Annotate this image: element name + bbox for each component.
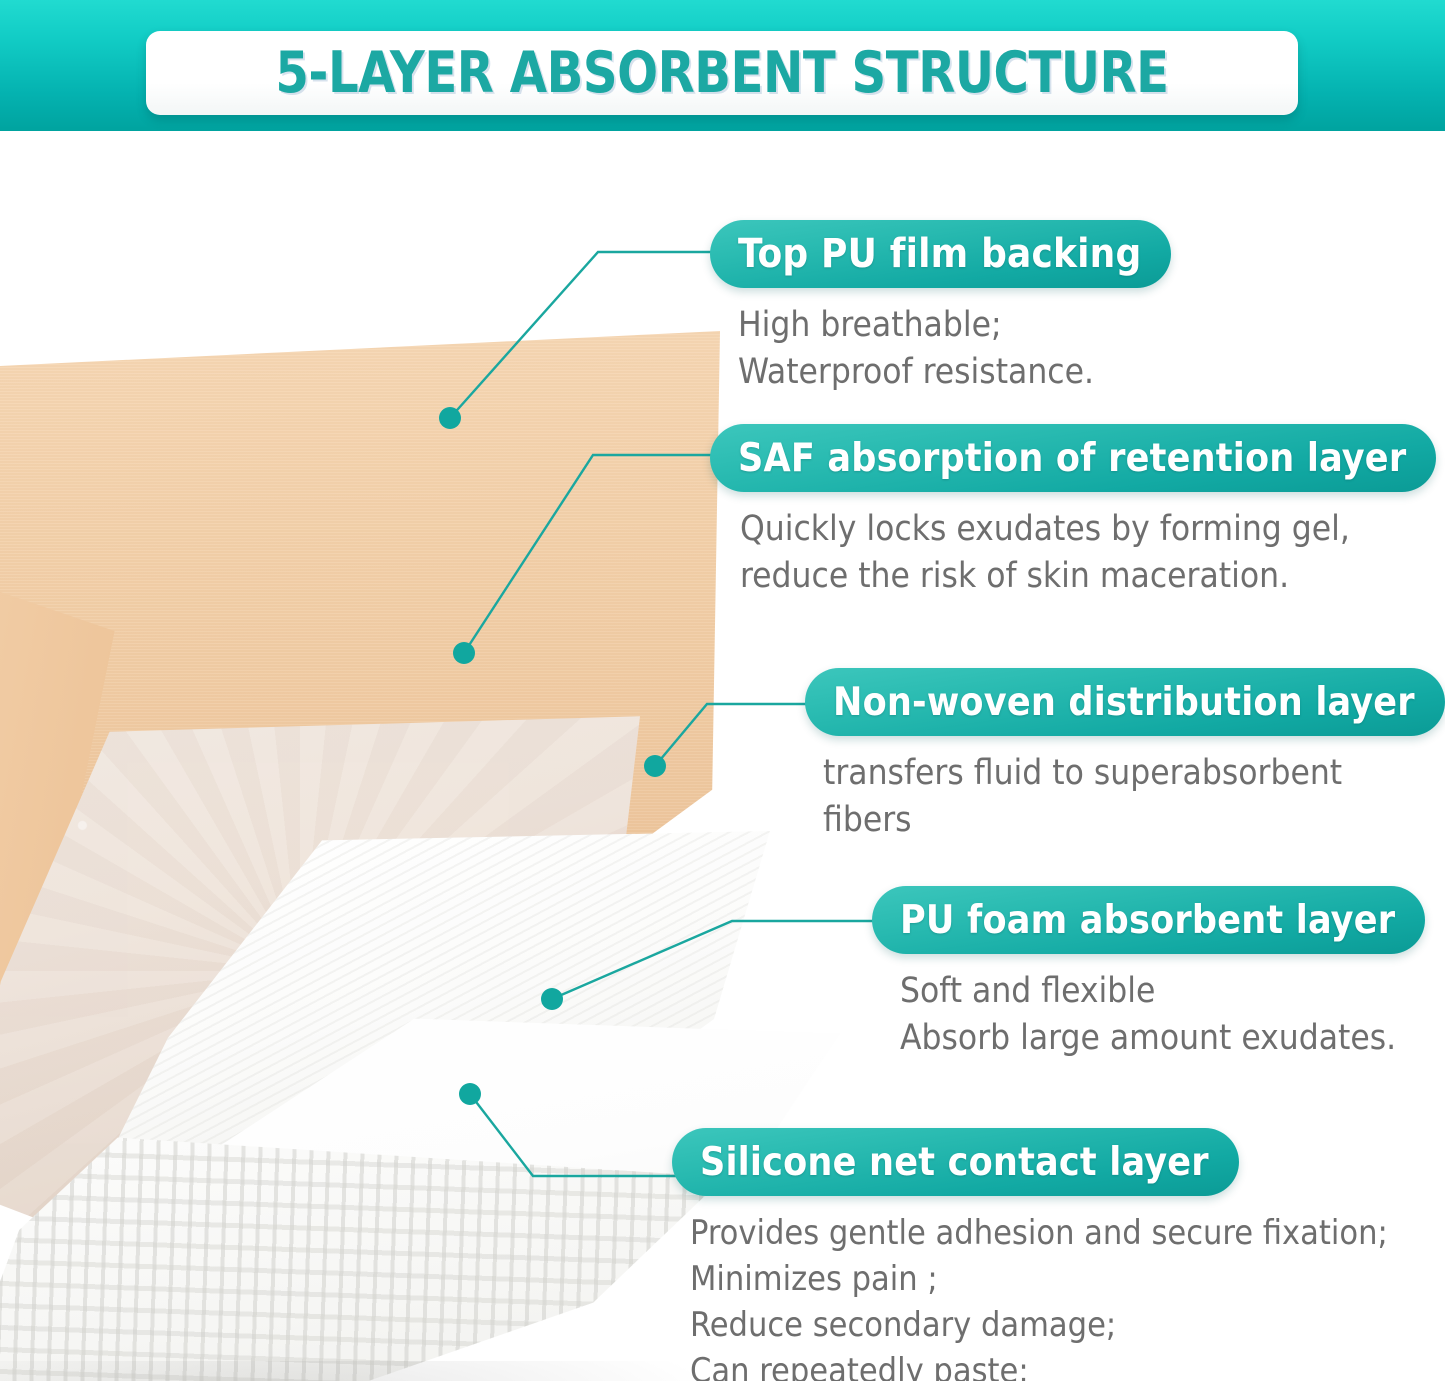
callout-description-5: Provides gentle adhesion and secure fixa…: [690, 1210, 1388, 1381]
callout-description-1: High breathable; Waterproof resistance.: [738, 302, 1171, 396]
callout-label-5[interactable]: Silicone net contact layer: [672, 1128, 1239, 1196]
callout-label-4[interactable]: PU foam absorbent layer: [872, 886, 1425, 954]
callout-description-2: Quickly locks exudates by forming gel, r…: [740, 506, 1436, 600]
callout-saf-retention-layer[interactable]: SAF absorption of retention layer Quickl…: [710, 424, 1436, 600]
callout-pu-foam-absorbent-layer[interactable]: PU foam absorbent layer Soft and flexibl…: [872, 886, 1425, 1062]
page-title: 5-LAYER ABSORBENT STRUCTURE: [181, 31, 1264, 115]
header-banner: 5-LAYER ABSORBENT STRUCTURE: [0, 0, 1445, 131]
callout-label-1[interactable]: Top PU film backing: [710, 220, 1171, 288]
callout-top-pu-film-backing[interactable]: Top PU film backing High breathable; Wat…: [710, 220, 1171, 396]
callout-description-4: Soft and flexible Absorb large amount ex…: [900, 968, 1425, 1062]
callout-non-woven-distribution-layer[interactable]: Non-woven distribution layer transfers f…: [805, 668, 1445, 844]
infographic-stage: 5-LAYER ABSORBENT STRUCTURE Top PU: [0, 0, 1445, 1381]
callout-description-3: transfers fluid to superabsorbent fibers: [823, 750, 1445, 844]
callout-label-3[interactable]: Non-woven distribution layer: [805, 668, 1445, 736]
callout-label-2[interactable]: SAF absorption of retention layer: [710, 424, 1436, 492]
product-stack-shadow: [0, 1361, 720, 1381]
callout-silicone-net-contact-layer[interactable]: Silicone net contact layer Provides gent…: [672, 1128, 1388, 1381]
header-title-plate: 5-LAYER ABSORBENT STRUCTURE: [146, 31, 1298, 115]
